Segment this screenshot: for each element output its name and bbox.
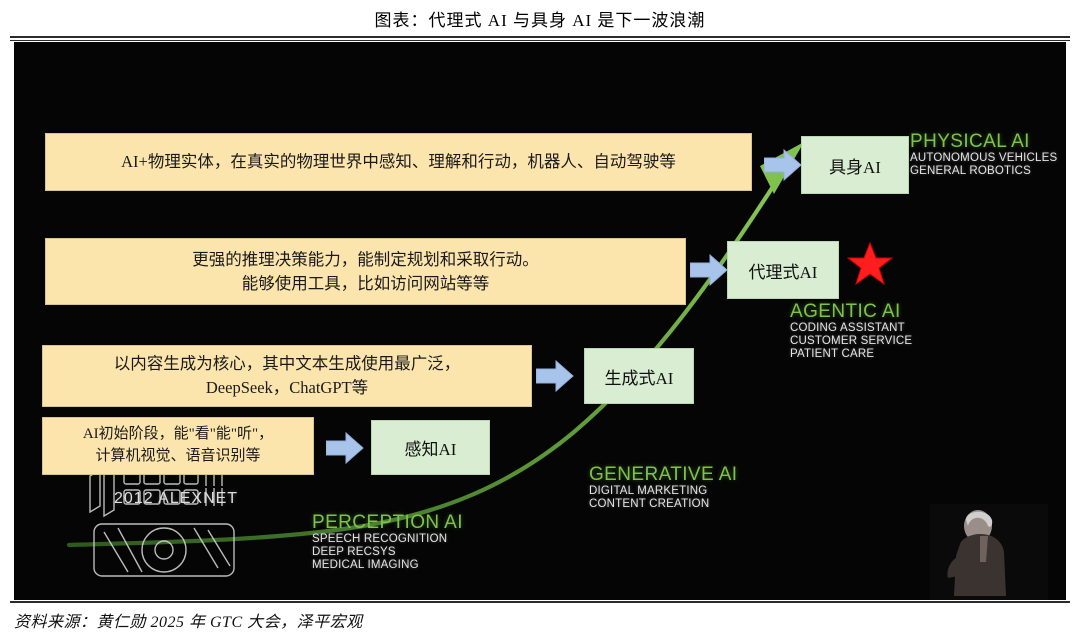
stage-heading: GENERATIVE AI <box>589 464 737 485</box>
stage-subline: MEDICAL IMAGING <box>312 559 463 572</box>
stage-heading: PERCEPTION AI <box>312 512 463 533</box>
stage-subline: DEEP RECSYS <box>312 546 463 559</box>
description-line: DeepSeek，ChatGPT等 <box>114 376 461 400</box>
stage-subline: CODING ASSISTANT <box>790 322 912 335</box>
alexnet-label: 2012 ALEXNET <box>114 490 238 508</box>
stage-label-generative: GENERATIVE AI DIGITAL MARKETING CONTENT … <box>589 464 737 511</box>
stage-subline: DIGITAL MARKETING <box>589 485 737 498</box>
right-arrow-icon <box>690 252 728 288</box>
page-title: 图表：代理式 AI 与具身 AI 是下一波浪潮 <box>0 6 1080 31</box>
description-box-generative: 以内容生成为核心，其中文本生成使用最广泛， DeepSeek，ChatGPT等 <box>42 345 532 407</box>
stage-label-agentic: AGENTIC AI CODING ASSISTANT CUSTOMER SER… <box>790 301 912 361</box>
alexnet-gpu-sketch-icon <box>84 462 284 582</box>
right-arrow-icon <box>326 430 364 466</box>
stage-subline: CUSTOMER SERVICE <box>790 335 912 348</box>
description-box-agentic: 更强的推理决策能力，能制定规划和采取行动。 能够使用工具，比如访问网站等等 <box>45 238 686 305</box>
stage-subline: AUTONOMOUS VEHICLES <box>910 152 1057 165</box>
title-rule-upper <box>10 36 1070 38</box>
source-note: 资料来源：黄仁勋 2025 年 GTC 大会，泽平宏观 <box>14 608 363 632</box>
star-icon <box>847 241 893 287</box>
stage-heading: PHYSICAL AI <box>910 131 1057 152</box>
stage-label-perception: PERCEPTION AI SPEECH RECOGNITION DEEP RE… <box>312 512 463 572</box>
description-box-perception: AI初始阶段，能"看"能"听"， 计算机视觉、语音识别等 <box>42 417 314 475</box>
description-line: 能够使用工具，比如访问网站等等 <box>192 272 539 296</box>
stage-subline: CONTENT CREATION <box>589 498 737 511</box>
description-line: 更强的推理决策能力，能制定规划和采取行动。 <box>192 248 539 272</box>
stage-subline: SPEECH RECOGNITION <box>312 533 463 546</box>
footer-rule <box>10 601 1070 603</box>
label-box-physical: 具身AI <box>801 136 909 194</box>
speaker-photo-icon <box>930 504 1048 600</box>
label-box-agentic: 代理式AI <box>727 241 839 299</box>
stage-subline: PATIENT CARE <box>790 348 912 361</box>
description-line: 计算机视觉、语音识别等 <box>83 446 273 468</box>
right-arrow-icon <box>536 358 574 394</box>
slide-panel: PHYSICAL AI AUTONOMOUS VEHICLES GENERAL … <box>14 42 1066 600</box>
label-box-perception: 感知AI <box>371 420 490 475</box>
stage-label-physical: PHYSICAL AI AUTONOMOUS VEHICLES GENERAL … <box>910 131 1057 178</box>
stage-subline: GENERAL ROBOTICS <box>910 165 1057 178</box>
stage-heading: AGENTIC AI <box>790 301 912 322</box>
label-box-generative: 生成式AI <box>584 348 694 404</box>
description-line: 以内容生成为核心，其中文本生成使用最广泛， <box>114 352 461 376</box>
description-box-physical: AI+物理实体，在真实的物理世界中感知、理解和行动，机器人、自动驾驶等 <box>45 133 752 191</box>
title-rule-lower <box>10 40 1070 41</box>
description-line: AI初始阶段，能"看"能"听"， <box>83 424 273 446</box>
right-arrow-icon <box>764 147 802 183</box>
description-line: AI+物理实体，在真实的物理世界中感知、理解和行动，机器人、自动驾驶等 <box>121 150 676 174</box>
